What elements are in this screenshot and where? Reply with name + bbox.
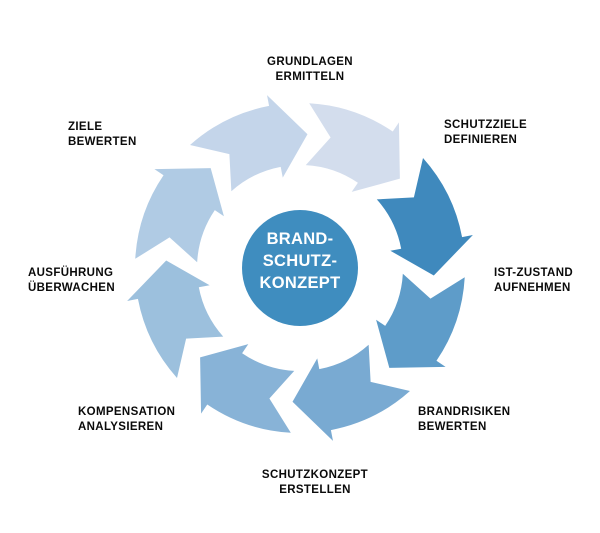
step-label-schutzziele-definieren: SCHUTZZIELE DEFINIEREN	[444, 118, 584, 148]
step-label-kompensation-analysieren: KOMPENSATION ANALYSIEREN	[78, 405, 228, 435]
step-label-ausfuehrung-ueberwachen: AUSFÜHRUNG ÜBERWACHEN	[28, 266, 168, 296]
step-label-ziele-bewerten: ZIELE BEWERTEN	[68, 120, 198, 150]
cycle-arrow-segment-1[interactable]	[306, 103, 400, 192]
step-label-ist-zustand-aufnehmen: IST-ZUSTAND AUFNEHMEN	[494, 266, 600, 296]
step-label-schutzkonzept-erstellen: SCHUTZKONZEPT ERSTELLEN	[240, 468, 390, 498]
cycle-arrow-segment-7[interactable]	[135, 168, 224, 262]
center-circle	[242, 210, 358, 326]
step-label-brandrisiken-bewerten: BRANDRISIKEN BEWERTEN	[418, 405, 568, 435]
brandschutzkonzept-cycle-diagram: GRUNDLAGEN ERMITTELN SCHUTZZIELE DEFINIE…	[0, 0, 600, 533]
step-label-grundlagen-ermitteln: GRUNDLAGEN ERMITTELN	[250, 55, 370, 85]
cycle-arrow-segment-3[interactable]	[376, 274, 465, 368]
